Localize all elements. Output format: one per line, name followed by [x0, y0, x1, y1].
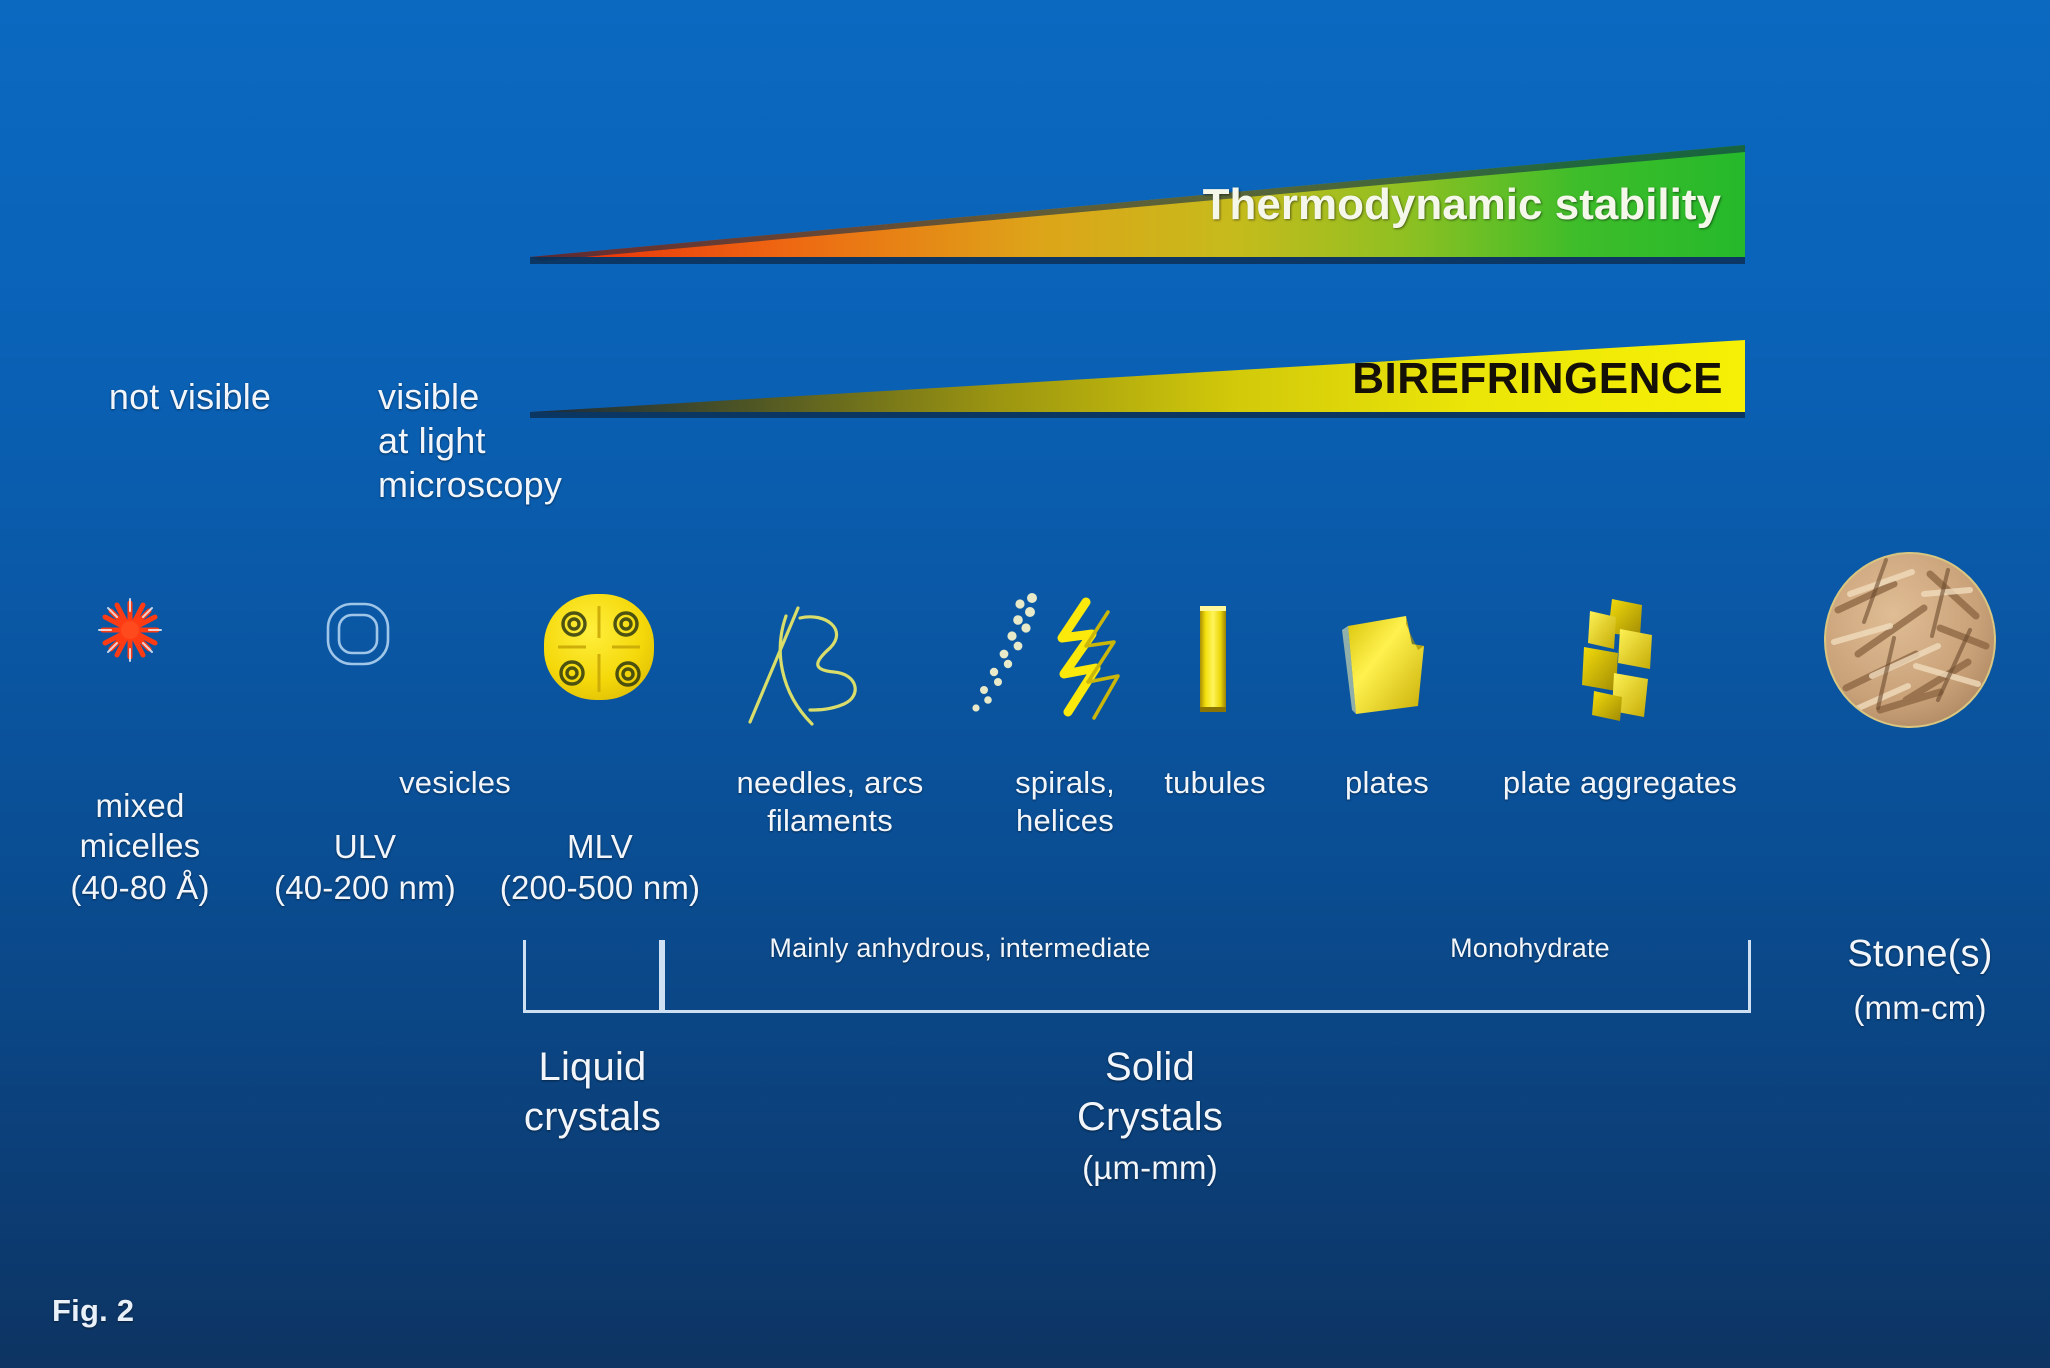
species-label-plate-aggregates: plate aggregates: [1455, 764, 1785, 802]
thermodynamic-stability-bar: Thermodynamic stability: [530, 145, 1745, 265]
multilamellar-vesicle-icon: [540, 588, 658, 706]
bracket-solid-crystals: [659, 940, 1751, 1013]
species-label-mlv: MLV: [485, 827, 715, 867]
phase-label-solid-crystals: Solid Crystals: [1000, 1042, 1300, 1142]
spirals-helices-icon: [968, 590, 1143, 730]
unilamellar-vesicle-icon: [322, 598, 394, 670]
mixed-micelle-icon: [95, 595, 165, 665]
birefringence-bar: BIREFRINGENCE: [530, 340, 1745, 418]
phase-label-liquid-crystals: Liquid crystals: [460, 1042, 725, 1142]
species-label-stone: Stone(s): [1810, 932, 2030, 978]
tubules-icon: [1193, 603, 1233, 715]
plate-aggregates-icon: [1570, 595, 1680, 725]
thermodynamic-stability-label: Thermodynamic stability: [1203, 180, 1721, 230]
figure-canvas: Thermodynamic stability BIREFRINGENCE no…: [0, 0, 2050, 1368]
species-label-vesicles: vesicles: [330, 764, 580, 802]
figure-caption: Fig. 2: [52, 1292, 232, 1330]
plates-icon: [1332, 610, 1442, 720]
species-size-mixed-micelles: (40-80 Å): [20, 868, 260, 908]
species-size-ulv: (40-200 nm): [250, 868, 480, 908]
species-label-mixed-micelles: mixed micelles: [20, 786, 260, 867]
stone-icon: [1820, 550, 2000, 730]
species-label-ulv: ULV: [250, 827, 480, 867]
species-size-stone: (mm-cm): [1810, 988, 2030, 1028]
visible-at-light-microscopy-label: visible at light microscopy: [378, 375, 628, 507]
bracket-liquid-crystals: [523, 940, 665, 1013]
species-size-mlv: (200-500 nm): [485, 868, 715, 908]
needles-arcs-filaments-icon: [740, 600, 920, 730]
phase-size-solid-crystals: (µm-mm): [1000, 1148, 1300, 1188]
not-visible-label: not visible: [60, 375, 320, 419]
birefringence-label: BIREFRINGENCE: [1352, 354, 1723, 404]
